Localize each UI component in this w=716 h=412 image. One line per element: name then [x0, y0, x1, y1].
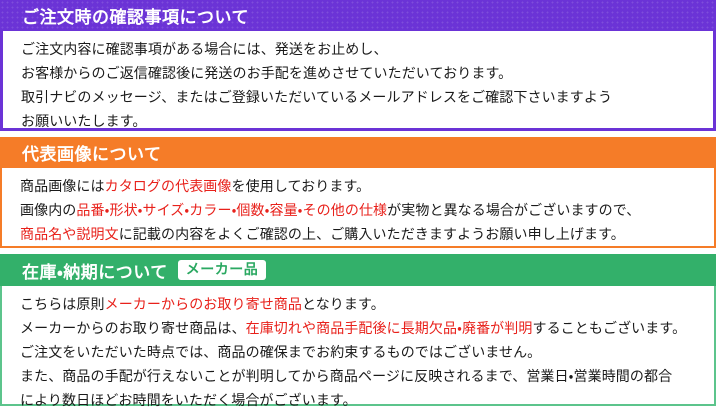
- plain-text: することもございます。: [532, 320, 686, 336]
- body-line: お客様からのご返信確認後に発送のお手配を進めさせていただいております。: [21, 61, 703, 85]
- plain-text: 画像内の: [20, 202, 76, 218]
- panel-header-order-confirmation: ご注文時の確認事項について: [0, 0, 716, 31]
- plain-text: お願いいたします。: [21, 113, 147, 129]
- plain-text: ご注文をいただいた時点では、商品の確保までお約束するものではございません。: [20, 344, 541, 360]
- body-line: により数日ほどお時間をいただく場合がございます。: [20, 388, 704, 412]
- info-panel-stack: ご注文時の確認事項について ご注文内容に確認事項がある場合には、発送をお止めし、…: [0, 0, 716, 406]
- panel-body-representative-image: 商品画像にはカタログの代表画像を使用しております。 画像内の品番・形状・サイズ・…: [0, 168, 716, 248]
- panel-header-stock-and-lead-time: 在庫・納期について メーカー品: [0, 254, 716, 286]
- highlighted-text: メーカーからのお取り寄せ商品: [105, 296, 302, 312]
- plain-text: を使用しております。: [232, 178, 371, 194]
- panel-title-stock-and-lead-time: 在庫・納期について: [22, 258, 168, 283]
- plain-text: 取引ナビのメッセージ、またはご登録いただいているメールアドレスをご確認下さいます…: [21, 89, 612, 105]
- plain-text: こちらは原則: [20, 296, 105, 312]
- plain-text: により数日ほどお時間をいただく場合がございます。: [20, 392, 357, 408]
- body-line: 画像内の品番・形状・サイズ・カラー・個数・容量・その他の仕様が実物と異なる場合が…: [20, 198, 704, 222]
- plain-text: ご注文内容に確認事項がある場合には、発送をお止めし、: [21, 41, 388, 57]
- body-line: ご注文をいただいた時点では、商品の確保までお約束するものではございません。: [20, 340, 704, 364]
- plain-text: 商品画像には: [20, 178, 105, 194]
- body-line: お願いいたします。: [21, 109, 703, 133]
- info-panel-order-confirmation: ご注文時の確認事項について ご注文内容に確認事項がある場合には、発送をお止めし、…: [0, 0, 716, 131]
- panel-title-representative-image: 代表画像について: [22, 140, 162, 165]
- body-line: こちらは原則メーカーからのお取り寄せ商品となります。: [20, 292, 704, 316]
- highlighted-text: 品番・形状・サイズ・カラー・個数・容量・その他の仕様: [76, 202, 387, 218]
- panel-title-order-confirmation: ご注文時の確認事項について: [22, 3, 249, 28]
- info-panel-stock-and-lead-time: 在庫・納期について メーカー品 こちらは原則メーカーからのお取り寄せ商品となりま…: [0, 254, 716, 406]
- body-line: ご注文内容に確認事項がある場合には、発送をお止めし、: [21, 37, 703, 61]
- panel-body-order-confirmation: ご注文内容に確認事項がある場合には、発送をお止めし、 お客様からのご返信確認後に…: [0, 31, 716, 131]
- info-panel-representative-image: 代表画像について 商品画像にはカタログの代表画像を使用しております。 画像内の品…: [0, 137, 716, 248]
- highlighted-text: 商品名や説明文: [20, 226, 119, 242]
- plain-text: が実物と異なる場合がございますので、: [387, 202, 640, 218]
- panel-header-representative-image: 代表画像について: [0, 137, 716, 168]
- plain-text: お客様からのご返信確認後に発送のお手配を進めさせていただいております。: [21, 65, 512, 81]
- body-line: 取引ナビのメッセージ、またはご登録いただいているメールアドレスをご確認下さいます…: [21, 85, 703, 109]
- body-line: 商品画像にはカタログの代表画像を使用しております。: [20, 174, 704, 198]
- maker-item-badge: メーカー品: [178, 260, 267, 280]
- plain-text: に記載の内容をよくご確認の上、ご購入いただきますようお願い申し上げます。: [119, 226, 625, 242]
- body-line: また、商品の手配が行えないことが判明してから商品ページに反映されるまで、営業日・…: [20, 364, 704, 388]
- plain-text: となります。: [302, 296, 385, 312]
- plain-text: メーカーからのお取り寄せ商品は、: [20, 320, 246, 336]
- plain-text: また、商品の手配が行えないことが判明してから商品ページに反映されるまで、営業日・…: [20, 368, 672, 384]
- highlighted-text: カタログの代表画像: [105, 178, 232, 194]
- panel-body-stock-and-lead-time: こちらは原則メーカーからのお取り寄せ商品となります。 メーカーからのお取り寄せ商…: [0, 286, 716, 406]
- highlighted-text: 在庫切れや商品手配後に長期欠品・廃番が判明: [246, 320, 533, 336]
- body-line: メーカーからのお取り寄せ商品は、在庫切れや商品手配後に長期欠品・廃番が判明するこ…: [20, 316, 704, 340]
- body-line: 商品名や説明文に記載の内容をよくご確認の上、ご購入いただきますようお願い申し上げ…: [20, 222, 704, 246]
